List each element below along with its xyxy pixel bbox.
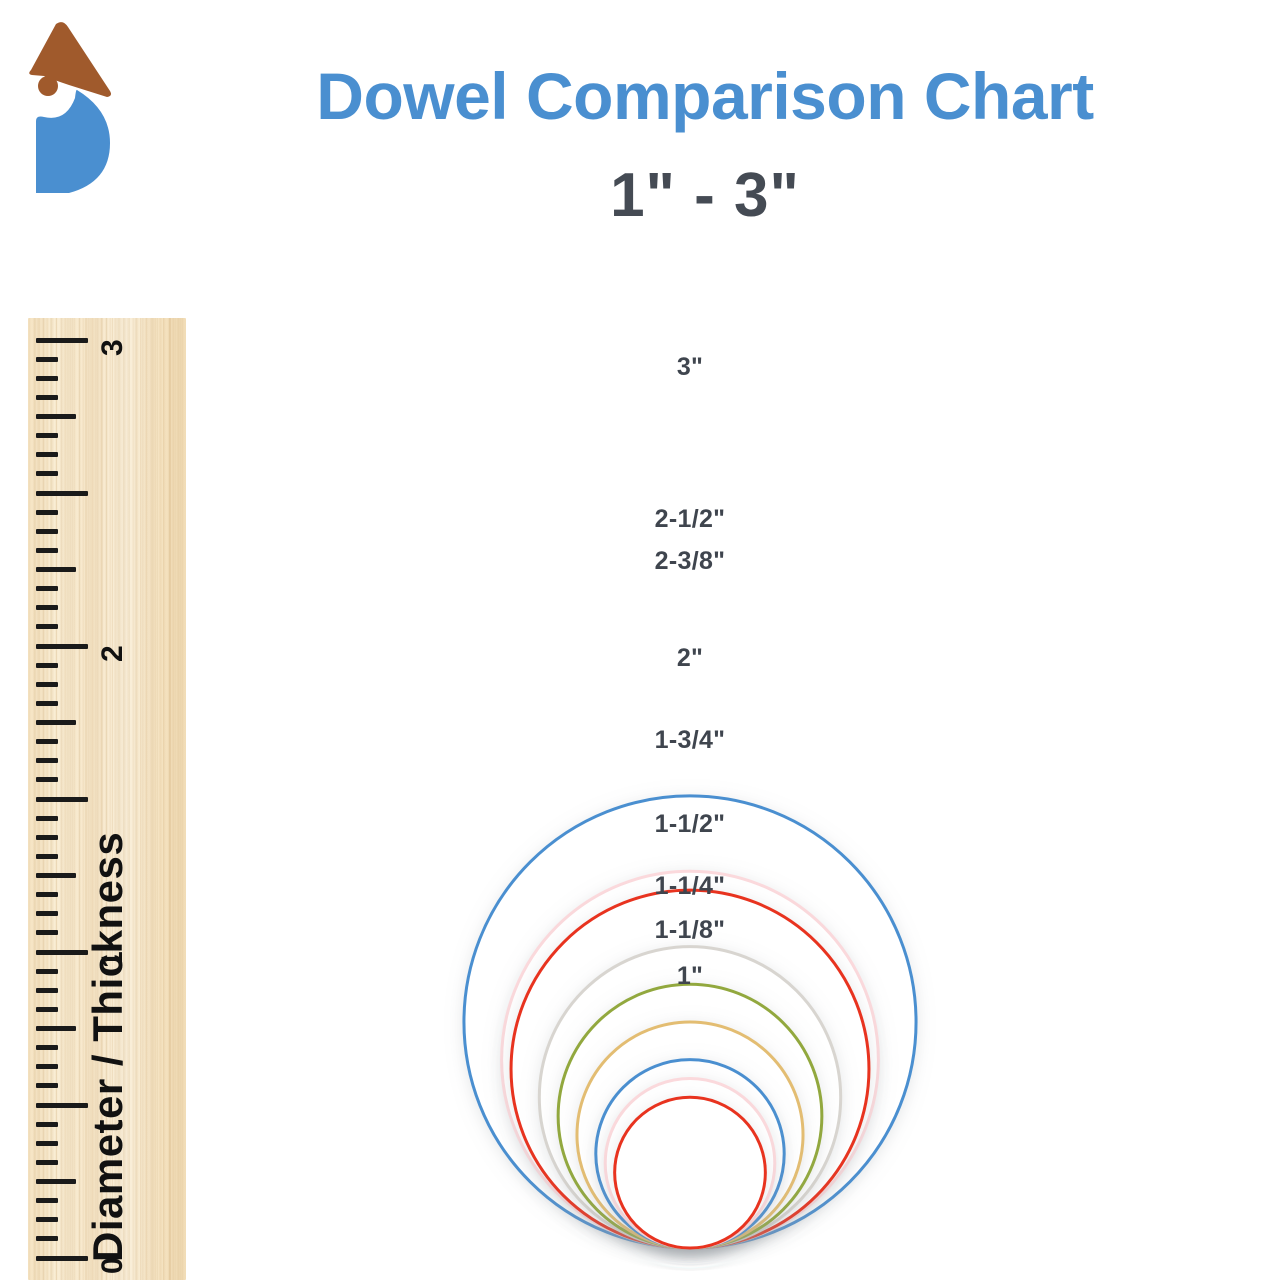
dowel-label-2-12: 2-1/2" bbox=[655, 505, 726, 534]
dowel-comparison-chart-page: Dowel Comparison Chart 1" - 3" 3210 Diam… bbox=[0, 0, 1280, 1280]
dowel-circles: 3"2-1/2"2-3/8"2"1-3/4"1-1/2"1-1/4"1-1/8"… bbox=[0, 0, 1280, 1280]
dowel-label-1: 1" bbox=[677, 962, 703, 991]
dowel-label-1-14: 1-1/4" bbox=[655, 872, 726, 901]
dowel-label-3: 3" bbox=[677, 353, 703, 382]
dowel-label-1-12: 1-1/2" bbox=[655, 810, 726, 839]
dowel-circles-svg bbox=[0, 0, 1280, 1280]
dowel-label-1-18: 1-1/8" bbox=[655, 916, 726, 945]
dowel-label-1-34: 1-3/4" bbox=[655, 726, 726, 755]
dowel-label-2: 2" bbox=[677, 644, 703, 673]
dowel-label-2-38: 2-3/8" bbox=[655, 547, 726, 576]
